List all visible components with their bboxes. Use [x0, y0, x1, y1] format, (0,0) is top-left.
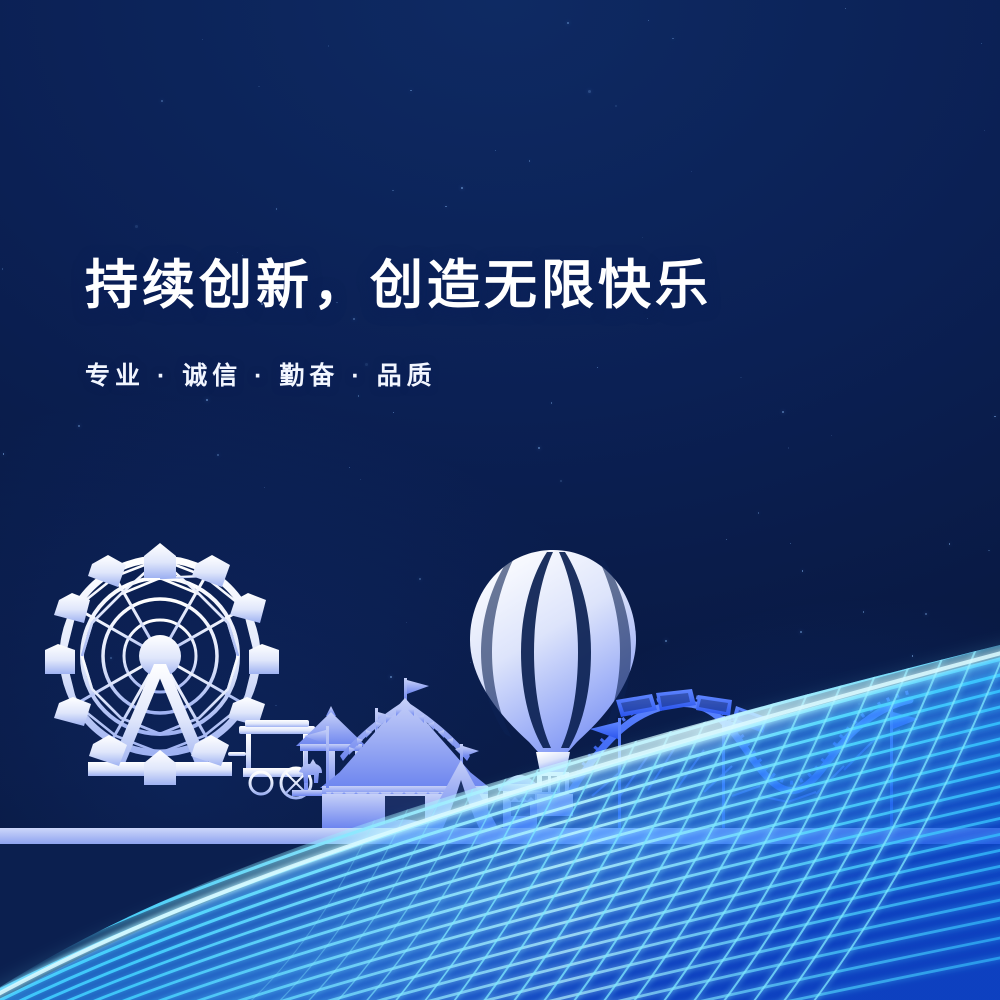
headline-block: 持续创新，创造无限快乐 专业 · 诚信 · 勤奋 · 品质	[85, 255, 712, 392]
amusement-park-scene	[0, 540, 1000, 1000]
roller-coaster-icon	[572, 689, 910, 828]
food-cart-icon	[228, 720, 315, 798]
poster-canvas: 持续创新，创造无限快乐 专业 · 诚信 · 勤奋 · 品质	[0, 0, 1000, 1000]
coaster-flag-left-icon	[590, 718, 621, 828]
ground-shadow	[0, 844, 1000, 1000]
page-subtitle: 专业 · 诚信 · 勤奋 · 品质	[85, 356, 712, 392]
ground-strip	[0, 828, 1000, 844]
hot-air-balloon-icon	[470, 550, 636, 816]
ticket-booth-icon	[498, 775, 542, 828]
page-title: 持续创新，创造无限快乐	[85, 255, 712, 318]
